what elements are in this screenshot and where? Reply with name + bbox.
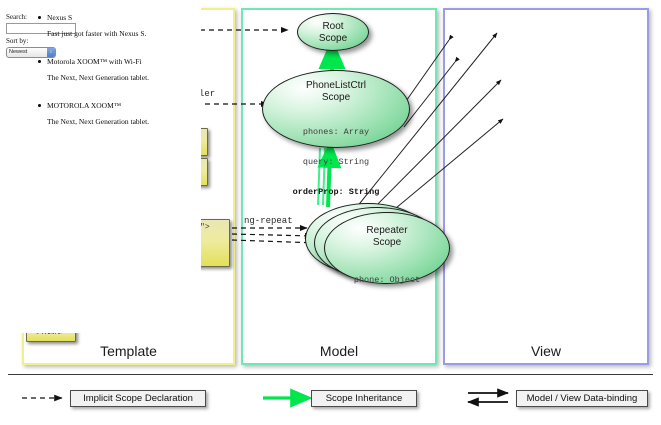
scope-root: Root Scope bbox=[297, 13, 369, 51]
bullet-icon bbox=[38, 60, 41, 63]
panel-view: View bbox=[443, 8, 649, 365]
edge-label-ng-repeat: ng-repeat bbox=[244, 216, 293, 226]
scope-phonelistctrl-title: PhoneListCtrl Scope bbox=[263, 80, 409, 104]
panel-view-label: View bbox=[445, 343, 647, 359]
list-item[interactable]: MOTOROLA XOOM™ The Next, Next Generation… bbox=[47, 101, 202, 126]
view-browser-mock: Search: Sort by: Newest ↕ Nexus S Fast j… bbox=[3, 3, 201, 333]
view-sort-selected-value: Newest bbox=[9, 49, 27, 55]
scope-prop-query: query: String bbox=[263, 157, 409, 167]
chevron-updown-icon: ↕ bbox=[47, 48, 55, 57]
view-search-label: Search: bbox=[6, 13, 27, 21]
phone-name: MOTOROLA XOOM™ bbox=[47, 101, 202, 110]
scope-prop-orderprop: orderProp: String bbox=[263, 187, 409, 197]
list-item[interactable]: Nexus S Fast just got faster with Nexus … bbox=[47, 13, 202, 38]
legend-model-view-data-binding: Model / View Data-binding bbox=[516, 390, 648, 407]
legend-glyph-double bbox=[468, 393, 508, 402]
phone-snippet: Fast just got faster with Nexus S. bbox=[47, 29, 202, 38]
scope-root-title: Root Scope bbox=[298, 21, 368, 45]
panel-template-label: Template bbox=[24, 343, 233, 359]
phone-name: Motorola XOOM™ with Wi-Fi bbox=[47, 57, 202, 66]
bullet-icon bbox=[38, 16, 41, 19]
scope-repeater-title: Repeater Scope bbox=[325, 225, 449, 249]
legend-divider bbox=[8, 374, 653, 375]
phone-name: Nexus S bbox=[47, 13, 202, 22]
scope-phonelistctrl: PhoneListCtrl Scope phones: Array query:… bbox=[262, 70, 410, 148]
panel-model-label: Model bbox=[243, 343, 435, 359]
legend-implicit-scope-declaration: Implicit Scope Declaration bbox=[70, 390, 206, 407]
phone-snippet: The Next, Next Generation tablet. bbox=[47, 73, 202, 82]
legend-scope-inheritance: Scope Inheritance bbox=[311, 390, 417, 407]
scope-prop-phone: phone: Object bbox=[325, 275, 449, 285]
phone-snippet: The Next, Next Generation tablet. bbox=[47, 117, 202, 126]
diagram-canvas: Template Model View bbox=[0, 0, 661, 425]
list-item[interactable]: Motorola XOOM™ with Wi-Fi The Next, Next… bbox=[47, 57, 202, 82]
scope-prop-phones: phones: Array bbox=[263, 127, 409, 137]
view-sort-label: Sort by: bbox=[6, 37, 28, 45]
scope-repeater: Repeater Scope phone: Object bbox=[324, 212, 450, 284]
scope-phonelistctrl-props: phones: Array query: String orderProp: S… bbox=[263, 107, 409, 217]
scope-repeater-props: phone: Object bbox=[325, 255, 449, 305]
bullet-icon bbox=[38, 104, 41, 107]
